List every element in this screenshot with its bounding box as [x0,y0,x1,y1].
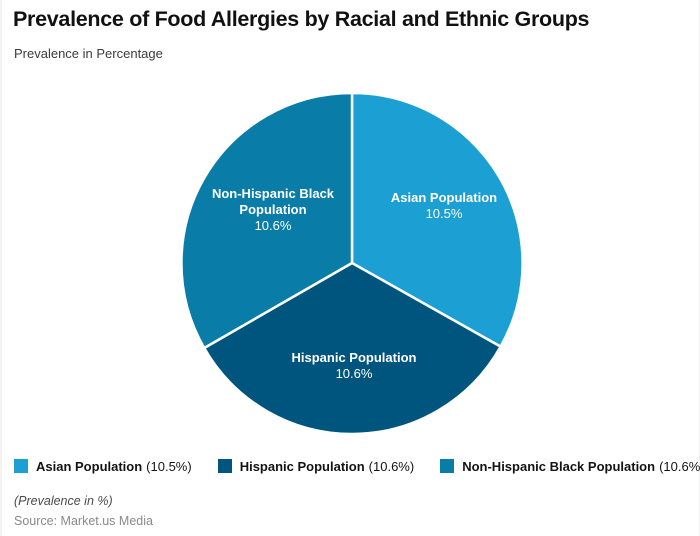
legend-label-non-hispanic-black: Non-Hispanic Black Population [462,459,655,474]
legend-label-asian: Asian Population [36,459,142,474]
legend-swatch-icon-hispanic [218,459,232,473]
pie-chart: Asian Population 10.5% Hispanic Populati… [2,0,700,445]
chart-footnote: (Prevalence in %) [14,494,113,508]
chart-legend: Asian Population (10.5%) Hispanic Popula… [14,455,690,477]
legend-label-hispanic: Hispanic Population [240,459,365,474]
legend-swatch-icon-asian [14,459,28,473]
legend-swatch-icon-non-hispanic-black [440,459,454,473]
legend-item-hispanic[interactable]: Hispanic Population (10.6%) [218,459,415,474]
legend-value-asian: (10.5%) [146,459,192,474]
pie-slices [181,93,522,434]
legend-value-non-hispanic-black: (10.6%) [659,459,700,474]
chart-container: Prevalence of Food Allergies by Racial a… [0,0,700,536]
legend-value-hispanic: (10.6%) [369,459,415,474]
legend-item-non-hispanic-black[interactable]: Non-Hispanic Black Population (10.6%) [440,459,700,474]
chart-source: Source: Market.us Media [14,514,153,528]
legend-item-asian[interactable]: Asian Population (10.5%) [14,459,192,474]
pie-svg [2,0,700,445]
